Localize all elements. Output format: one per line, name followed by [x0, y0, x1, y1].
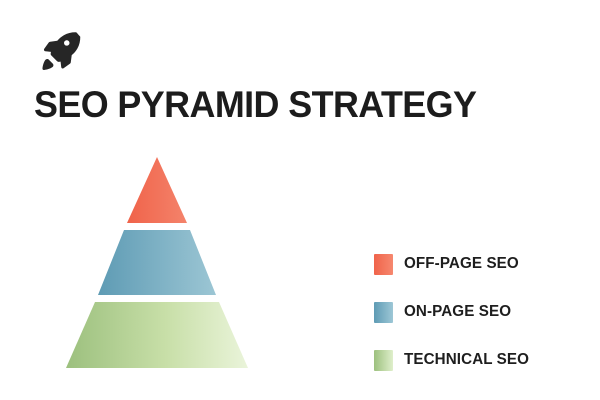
- legend-label-technical-seo: TECHNICAL SEO: [404, 351, 529, 369]
- legend-label-off-page-seo: OFF-PAGE SEO: [404, 255, 519, 273]
- legend: OFF-PAGE SEO ON-PAGE SEO TECHNICAL SEO: [374, 240, 584, 384]
- pyramid-level-technical-seo[interactable]: [66, 302, 248, 368]
- legend-label-on-page-seo: ON-PAGE SEO: [404, 303, 511, 321]
- pyramid-chart: [20, 148, 320, 378]
- legend-item-off-page-seo[interactable]: OFF-PAGE SEO: [374, 240, 584, 288]
- pyramid-level-on-page-seo[interactable]: [98, 230, 216, 295]
- legend-swatch-off-page-seo: [374, 254, 393, 275]
- header: SEO PYRAMID STRATEGY: [34, 28, 554, 123]
- legend-swatch-technical-seo: [374, 350, 393, 371]
- legend-item-on-page-seo[interactable]: ON-PAGE SEO: [374, 288, 584, 336]
- page-title: SEO PYRAMID STRATEGY: [34, 86, 538, 123]
- infographic-canvas: SEO PYRAMID STRATEGY: [0, 0, 600, 400]
- pyramid-level-off-page-seo[interactable]: [127, 157, 187, 223]
- pyramid-svg: [20, 148, 320, 378]
- legend-item-technical-seo[interactable]: TECHNICAL SEO: [374, 336, 584, 384]
- rocket-icon: [36, 28, 82, 74]
- legend-swatch-on-page-seo: [374, 302, 393, 323]
